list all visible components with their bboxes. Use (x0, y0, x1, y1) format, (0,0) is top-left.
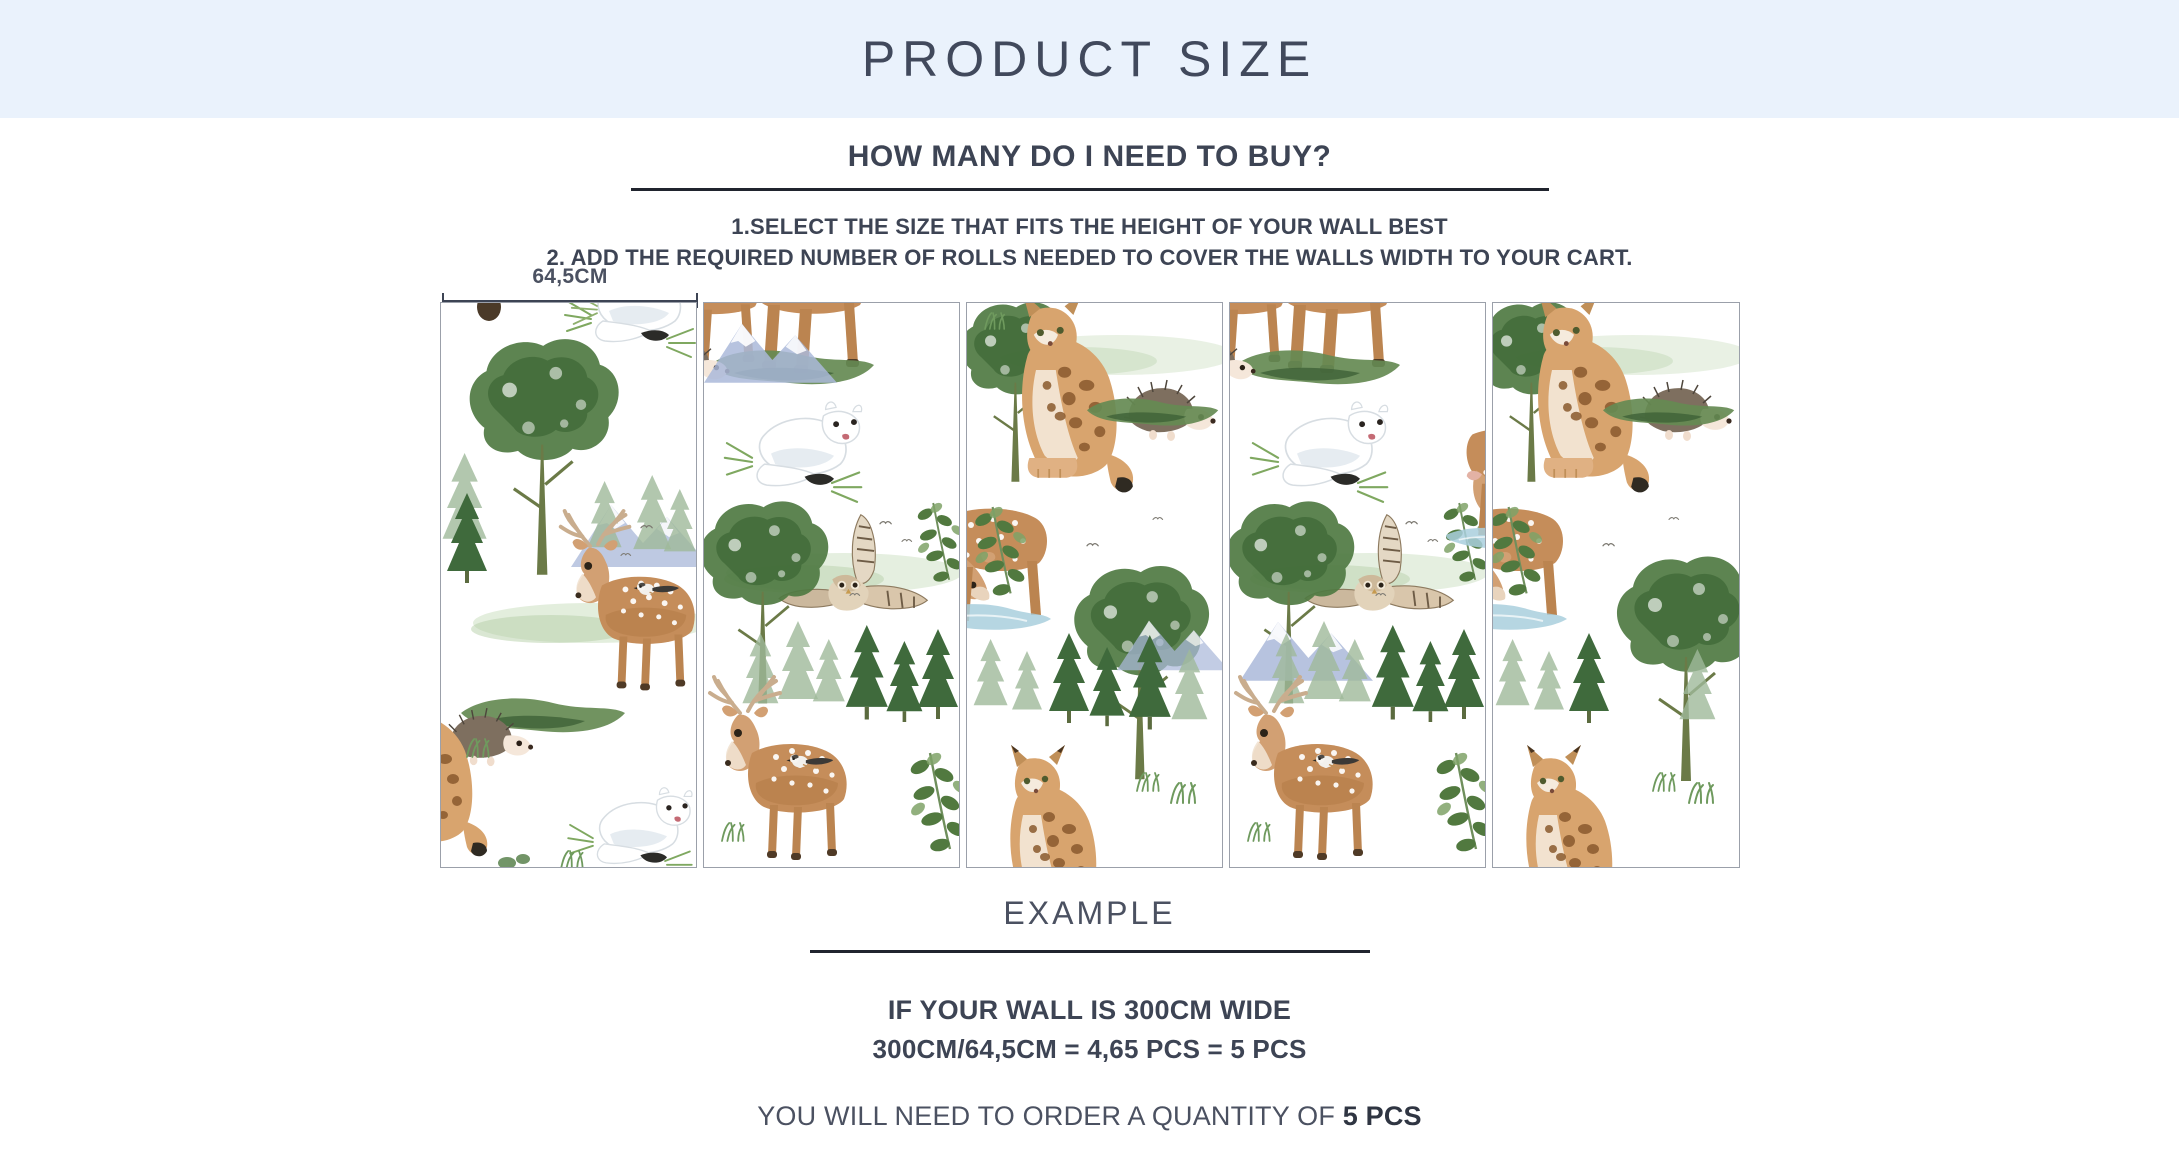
intro-step-1: 1.SELECT THE SIZE THAT FITS THE HEIGHT O… (0, 211, 2179, 242)
woodland-pattern-artwork-2 (704, 303, 960, 868)
wallpaper-panel-3[interactable] (966, 302, 1223, 868)
example-divider (810, 950, 1370, 953)
roll-width-label: 64,5CM (442, 265, 698, 289)
example-calculation: 300CM/64,5CM = 4,65 PCS = 5 PCS (0, 1034, 2179, 1065)
wallpaper-panel-2[interactable] (703, 302, 960, 868)
example-section: EXAMPLE IF YOUR WALL IS 300CM WIDE 300CM… (0, 895, 2179, 1132)
example-conclusion-quantity: 5 PCS (1343, 1101, 1422, 1131)
example-conclusion: YOU WILL NEED TO ORDER A QUANTITY OF 5 P… (0, 1101, 2179, 1132)
woodland-pattern-artwork-4 (1230, 303, 1486, 868)
example-heading: EXAMPLE (0, 895, 2179, 932)
product-size-header-band: PRODUCT SIZE (0, 0, 2179, 118)
intro-section: HOW MANY DO I NEED TO BUY? 1.SELECT THE … (0, 118, 2179, 273)
page-title: PRODUCT SIZE (862, 30, 1317, 88)
woodland-pattern-artwork-1 (441, 303, 697, 868)
roll-width-dimension: 64,5CM (442, 265, 698, 307)
intro-divider (631, 188, 1549, 191)
woodland-pattern-artwork-3 (967, 303, 1223, 868)
wallpaper-panel-5[interactable] (1492, 302, 1740, 868)
woodland-pattern-artwork-5 (1493, 303, 1740, 868)
wallpaper-panel-4[interactable] (1229, 302, 1486, 868)
wallpaper-panel-strip (440, 302, 1740, 868)
example-conclusion-prefix: YOU WILL NEED TO ORDER A QUANTITY OF (757, 1101, 1343, 1131)
wallpaper-panel-1[interactable] (440, 302, 697, 868)
intro-heading: HOW MANY DO I NEED TO BUY? (0, 140, 2179, 174)
intro-steps: 1.SELECT THE SIZE THAT FITS THE HEIGHT O… (0, 211, 2179, 273)
intro-step-2: 2. ADD THE REQUIRED NUMBER OF ROLLS NEED… (0, 242, 2179, 273)
example-wall-width: IF YOUR WALL IS 300CM WIDE (0, 995, 2179, 1026)
